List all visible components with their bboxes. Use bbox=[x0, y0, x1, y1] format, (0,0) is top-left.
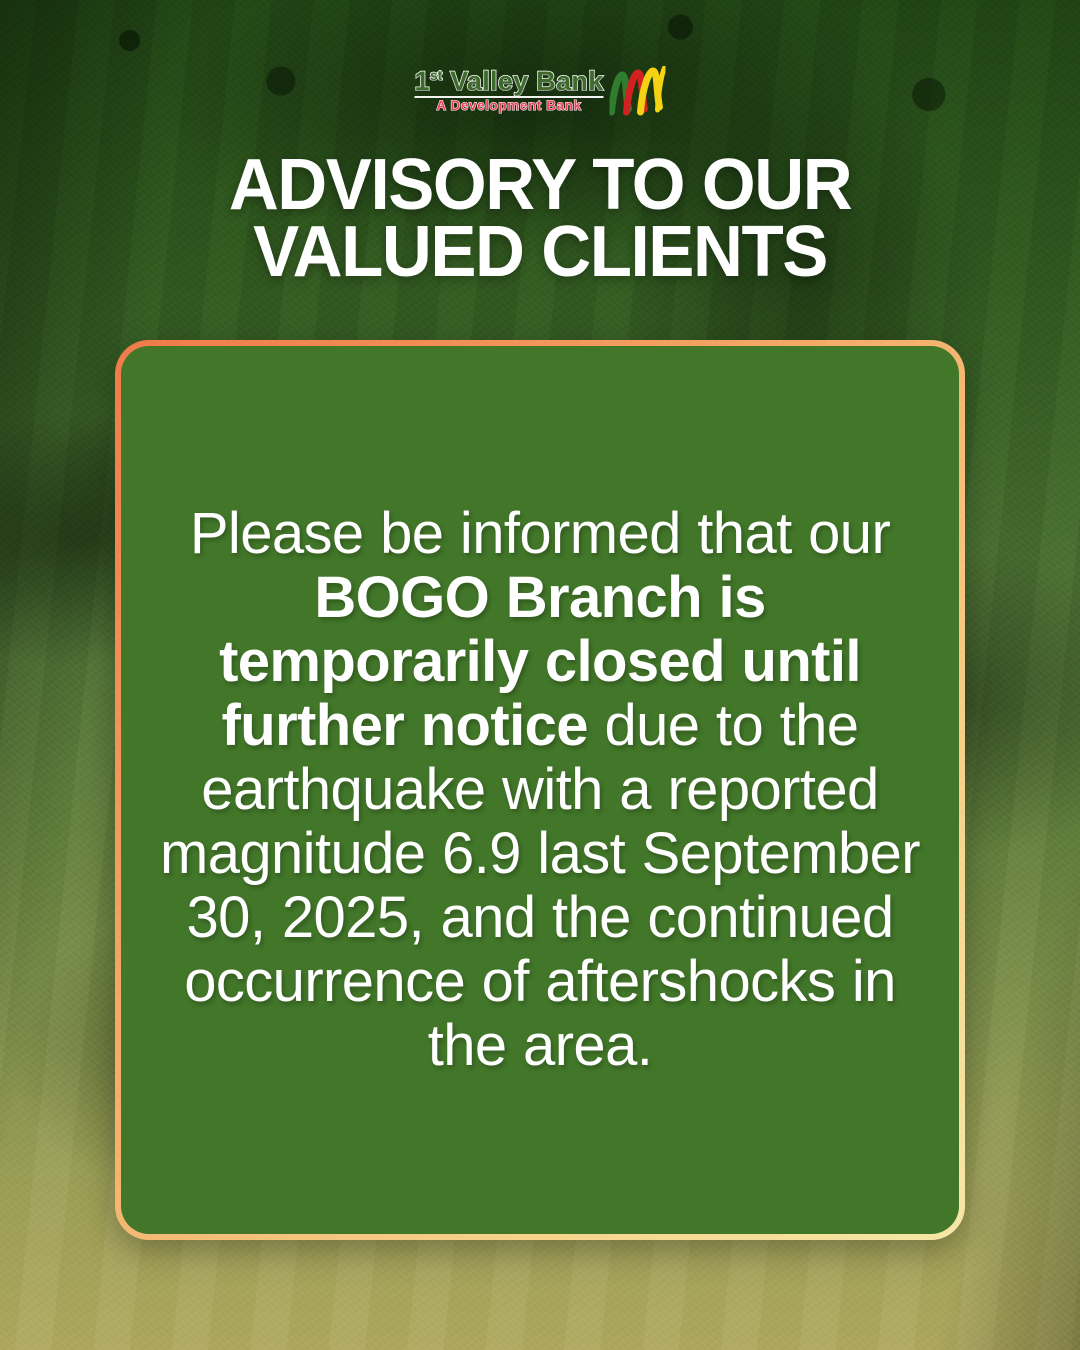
advisory-card: Please be informed that our BOGO Branch … bbox=[121, 346, 959, 1234]
advisory-intro-text: Please be informed that our bbox=[190, 501, 890, 566]
logo-wordmark: 1st Valley Bank bbox=[414, 68, 603, 95]
logo-tagline: A Development Bank bbox=[436, 99, 581, 113]
headline-line-1: ADVISORY TO OUR bbox=[60, 152, 1020, 219]
wave-zigzag-logo-icon bbox=[610, 66, 666, 116]
advisory-poster: 1st Valley Bank A Development Bank ADVIS… bbox=[0, 0, 1080, 1350]
logo-text-block: 1st Valley Bank A Development Bank bbox=[414, 68, 603, 113]
page-title: ADVISORY TO OUR VALUED CLIENTS bbox=[22, 152, 1059, 286]
logo-ordinal-suffix: st bbox=[430, 67, 442, 83]
logo-ordinal-number: 1 bbox=[414, 66, 429, 96]
bank-logo: 1st Valley Bank A Development Bank bbox=[414, 66, 665, 116]
logo-name-main: Valley Bank bbox=[450, 66, 603, 96]
logo-divider-rule bbox=[414, 96, 603, 98]
advisory-card-border: Please be informed that our BOGO Branch … bbox=[115, 340, 965, 1240]
headline-line-2: VALUED CLIENTS bbox=[60, 219, 1020, 286]
advisory-message: Please be informed that our BOGO Branch … bbox=[157, 502, 923, 1079]
